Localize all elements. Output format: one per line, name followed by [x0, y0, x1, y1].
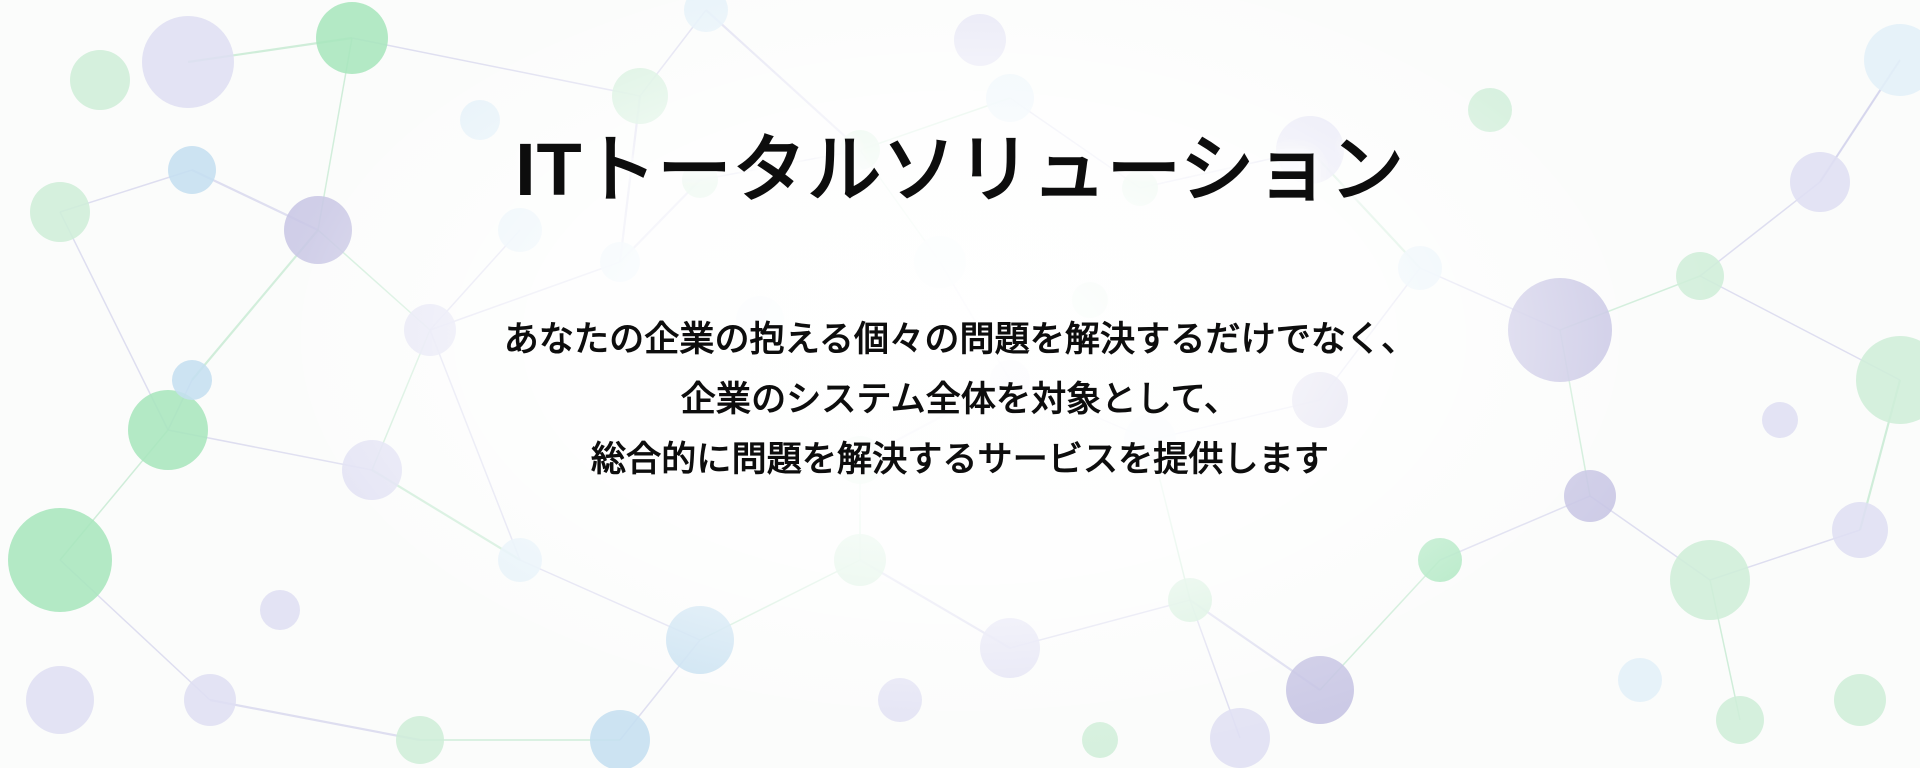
subtitle-line-1: あなたの企業の抱える個々の問題を解決するだけでなく、 [0, 310, 1920, 370]
hero-banner: ITトータルソリューション あなたの企業の抱える個々の問題を解決するだけでなく、… [0, 0, 1920, 768]
hero-subtitle: あなたの企業の抱える個々の問題を解決するだけでなく、 企業のシステム全体を対象と… [0, 310, 1920, 490]
subtitle-line-2: 企業のシステム全体を対象として、 [0, 370, 1920, 430]
subtitle-line-3: 総合的に問題を解決するサービスを提供します [0, 430, 1920, 490]
page-title: ITトータルソリューション [0, 133, 1920, 207]
hero-content: ITトータルソリューション あなたの企業の抱える個々の問題を解決するだけでなく、… [0, 0, 1920, 768]
